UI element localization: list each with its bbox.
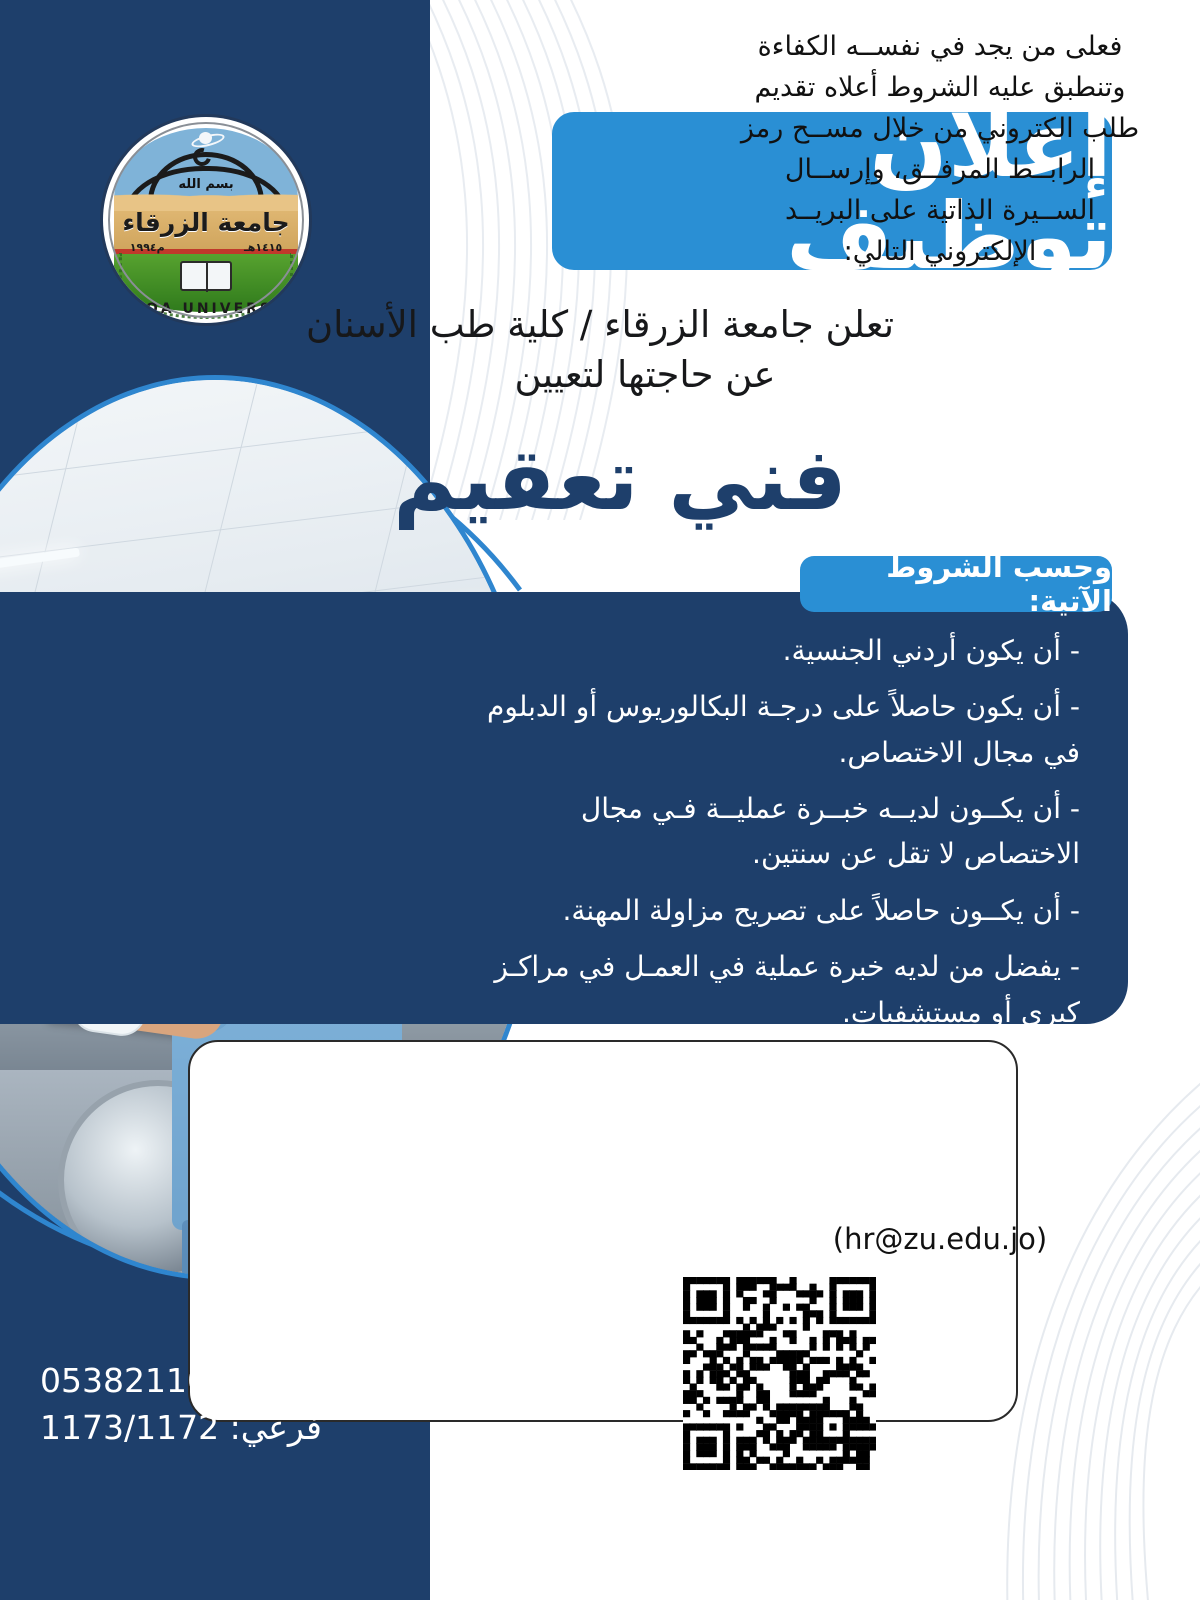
conditions-panel: - أن يكون أردني الجنسية. - أن يكون حاصلا… [0,592,1128,1024]
zarqa-university-logo: بسم الله جامعة الزرقاء ١٤١٥هـ م١٩٩٤ ZARQ… [103,117,309,323]
condition-item: - أن يكــون لديــه خبــرة عمليــة فـي مج… [480,786,1080,877]
contact-numbers: أرضي: 053821100 فرعي: 1173/1172 [40,1358,370,1452]
subtitle-line-1: تعلن جامعة الزرقاء / كلية طب الأسنان [60,300,1140,350]
condition-item: - أن يكون أردني الجنسية. [480,628,1080,673]
contact-email: (hr@zu.edu.jo) [740,1222,1140,1256]
conditions-badge-label: وحسب الشروط الآتية: [800,550,1112,618]
recruitment-poster: بسم الله جامعة الزرقاء ١٤١٥هـ م١٩٩٤ ZARQ… [0,0,1200,1600]
job-title: فني تعقيم [40,430,1200,530]
conditions-badge: وحسب الشروط الآتية: [800,556,1112,612]
poster-subtitle: تعلن جامعة الزرقاء / كلية طب الأسنان عن … [60,300,1140,400]
condition-item: - أن يكــون حاصلاً على تصريح مزاولة المه… [480,888,1080,933]
condition-item: - يفضل من لديه خبرة عملية في العمـل في م… [480,944,1080,1035]
contact-extension: فرعي: 1173/1172 [40,1405,370,1452]
subtitle-line-2: عن حاجتها لتعيين [60,350,1140,400]
qr-code[interactable] [683,1277,876,1470]
apply-instructions-text: فعلى من يجد في نفســه الكفاءة وتنطبق علي… [740,26,1140,272]
condition-item: - أن يكون حاصلاً على درجـة البكالوريوس أ… [480,684,1080,775]
conditions-list: - أن يكون أردني الجنسية. - أن يكون حاصلا… [480,628,1080,1046]
contact-landline: أرضي: 053821100 [40,1358,370,1405]
